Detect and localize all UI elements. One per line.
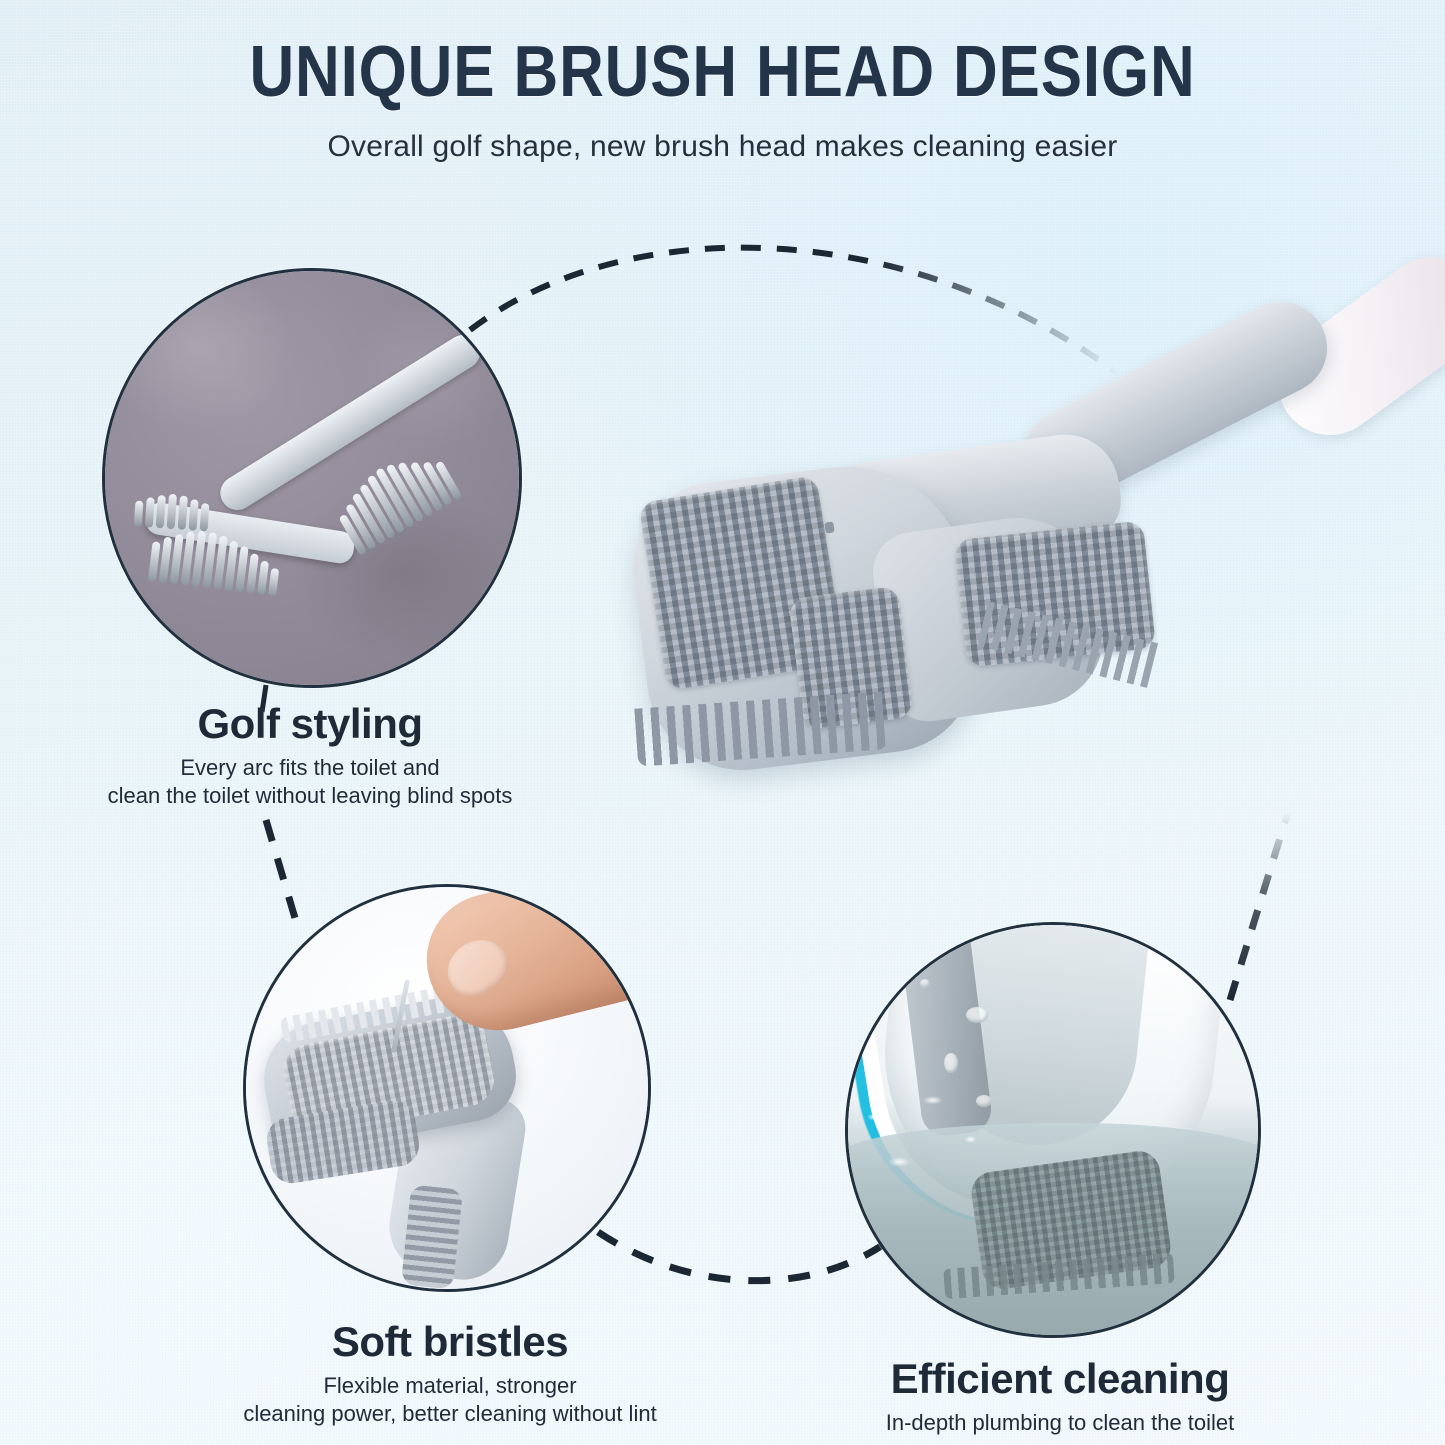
feature-caption-golf: Golf styling Every arc fits the toilet a… [40, 700, 580, 810]
efficient-cleaning-closeup [845, 922, 1261, 1338]
page-title: UNIQUE BRUSH HEAD DESIGN [101, 0, 1344, 108]
feature-caption-efficient: Efficient cleaning In-depth plumbing to … [840, 1355, 1280, 1437]
water-droplet [944, 1053, 958, 1073]
closeup-bristle-pad-stem [401, 1185, 463, 1290]
feature-description-line1: Every arc fits the toilet and [40, 748, 580, 782]
feature-description-line1: Flexible material, stronger [200, 1366, 700, 1400]
soft-bristles-closeup [243, 884, 651, 1292]
feature-heading: Soft bristles [200, 1318, 700, 1366]
water-droplet [920, 979, 930, 988]
feature-description-line2: cleaning power, better cleaning without … [200, 1400, 700, 1428]
infographic-canvas: UNIQUE BRUSH HEAD DESIGN Overall golf sh… [0, 0, 1445, 1445]
brush-hang-hole [824, 521, 834, 533]
feature-caption-bristles: Soft bristles Flexible material, stronge… [200, 1318, 700, 1428]
water-droplet [976, 1095, 992, 1107]
feature-description-line1: In-depth plumbing to clean the toilet [840, 1403, 1280, 1437]
feature-heading: Efficient cleaning [840, 1355, 1280, 1403]
header: UNIQUE BRUSH HEAD DESIGN Overall golf sh… [0, 0, 1445, 164]
golf-styling-closeup [102, 268, 522, 688]
page-subtitle: Overall golf shape, new brush head makes… [0, 108, 1445, 164]
feature-description-line2: clean the toilet without leaving blind s… [40, 782, 580, 810]
feature-heading: Golf styling [40, 700, 580, 748]
closeup-bristles-tip [134, 486, 211, 531]
product-image [630, 300, 1445, 840]
water-droplet [966, 1007, 988, 1023]
thumbnail [437, 929, 517, 1007]
closeup-backdrop [105, 271, 519, 685]
